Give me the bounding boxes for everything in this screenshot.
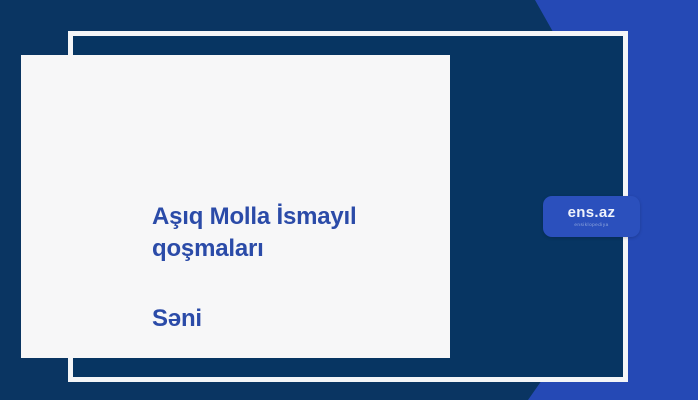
- content-card: Aşıq Molla İsmayıl qoşmaları Səni: [21, 55, 450, 358]
- page-title: Aşıq Molla İsmayıl qoşmaları: [152, 201, 452, 265]
- brand-name-label: ens.az: [568, 205, 616, 220]
- slide-canvas: Aşıq Molla İsmayıl qoşmaları Səni ens.az…: [0, 0, 698, 400]
- brand-badge[interactable]: ens.az ensiklopediya: [543, 196, 640, 237]
- page-subtitle: Səni: [152, 265, 452, 335]
- text-block: Aşıq Molla İsmayıl qoşmaları Səni: [152, 201, 452, 335]
- brand-tagline-label: ensiklopediya: [574, 220, 608, 228]
